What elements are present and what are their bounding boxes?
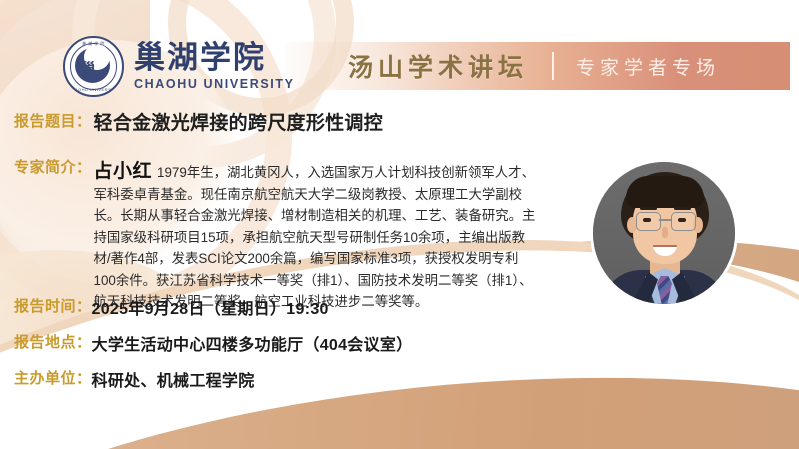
report-place-row: 报告地点： 大学生活动中心四楼多功能厅（404会议室） [14,331,413,355]
report-host-row: 主办单位： 科研处、机械工程学院 [14,367,255,391]
report-title-value: 轻合金激光焊接的跨尺度形性调控 [94,108,384,135]
report-time-row: 报告时间： 2025年9月28日（星期日）19:30 [14,295,329,319]
speaker-name: 占小红 [94,161,153,182]
poster-canvas: 汤山学术讲坛 专家学者专场 巢 巢 湖 学 院 CHAOHU UNIVERSIT… [0,0,799,449]
university-name-cn: 巢湖学院 [134,42,295,75]
report-place-label: 报告地点： [14,331,92,352]
report-title-row: 报告题目： 轻合金激光焊接的跨尺度形性调控 [14,110,383,137]
header-banner-text: 汤山学术讲坛 专家学者专场 [285,42,790,90]
report-place-value: 大学生活动中心四楼多功能厅（404会议室） [92,331,413,355]
report-host-label: 主办单位： [14,367,92,388]
report-host-value: 科研处、机械工程学院 [92,367,255,391]
report-time-label: 报告时间： [14,295,92,316]
report-title-label: 报告题目： [14,110,92,131]
speaker-bio-text: 1979年生，湖北黄冈人，入选国家万人计划科技创新领军人才、军科委卓青基金。现任… [94,165,536,309]
speaker-portrait-avatar [593,162,735,304]
banner-main-title: 汤山学术讲坛 [348,48,528,84]
speaker-bio-row: 专家简介： 占小红1979年生，湖北黄冈人，入选国家万人计划科技创新领军人才、军… [14,156,554,313]
banner-subtitle: 专家学者专场 [576,53,720,80]
university-crest-icon: 巢 巢 湖 学 院 CHAOHU UNIVERSITY [63,36,124,97]
report-time-value: 2025年9月28日（星期日）19:30 [92,295,329,319]
banner-separator-icon [552,52,554,80]
university-logo: 巢 巢 湖 学 院 CHAOHU UNIVERSITY 巢湖学院 CHAOHU … [63,36,295,97]
crest-top-text: 巢 湖 学 院 [65,41,122,47]
speaker-bio-label: 专家简介： [14,156,92,177]
speaker-bio-body: 占小红1979年生，湖北黄冈人，入选国家万人计划科技创新领军人才、军科委卓青基金… [94,156,536,313]
crest-bottom-text: CHAOHU UNIVERSITY [65,87,122,92]
university-name-en: CHAOHU UNIVERSITY [134,77,295,91]
